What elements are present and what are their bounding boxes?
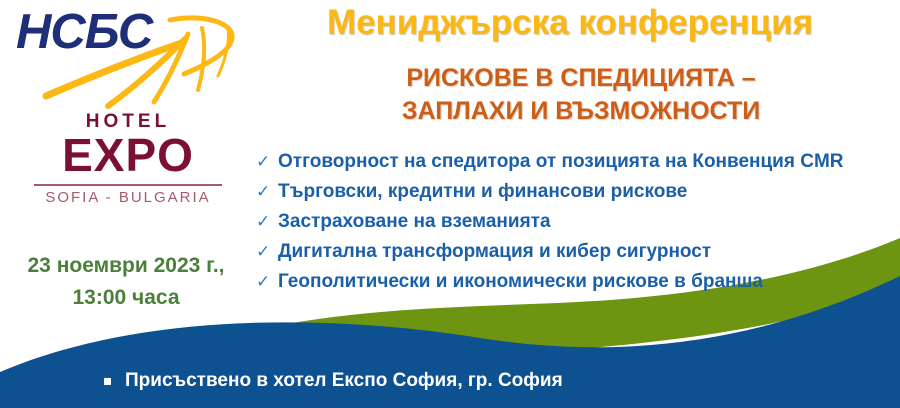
check-icon: ✓ [256,273,278,290]
list-item: ✓ Геополитически и икономически рискове … [256,272,896,296]
event-time: 13:00 часа [8,282,244,314]
hotel-expo-logo: HOTEL EXPO SOFIA - BULGARIA [28,112,228,207]
check-icon: ✓ [256,183,278,200]
list-item: ✓ Отговорност на спедитора от позицията … [256,152,896,176]
venue-label: Присъствено в хотел Експо София, гр. Соф… [125,370,563,392]
event-datetime: 23 ноември 2023 г., 13:00 часа [8,250,244,313]
subtitle-line-1: РИСКОВЕ В СПЕДИЦИЯТА – [270,62,892,95]
topics-list: ✓ Отговорност на спедитора от позицията … [256,152,896,302]
subtitle-line-2: ЗАПЛАХИ И ВЪЗМОЖНОСТИ [270,95,892,128]
list-item-label: Геополитически и икономически рискове в … [278,272,763,293]
page-subtitle: РИСКОВЕ В СПЕДИЦИЯТА – ЗАПЛАХИ И ВЪЗМОЖН… [270,62,892,128]
expo-wordmark: EXPO [28,131,228,179]
nsbs-wordmark: НСБС [16,8,152,57]
check-icon: ✓ [256,243,278,260]
nsbs-logo: НСБС [8,2,246,110]
square-bullet-icon [104,378,111,385]
list-item: ✓ Дигитална трансформация и кибер сигурн… [256,242,896,266]
list-item-label: Търговски, кредитни и финансови рискове [278,182,687,203]
conference-poster: НСБС HOTEL EXPO SOFIA - BULGARIA 23 ноем… [0,0,900,408]
list-item: ✓ Търговски, кредитни и финансови рисков… [256,182,896,206]
check-icon: ✓ [256,153,278,170]
list-item-label: Дигитална трансформация и кибер сигурнос… [278,242,711,263]
list-item-label: Застраховане на вземанията [278,212,551,233]
list-item: ✓ Застраховане на вземанията [256,212,896,236]
venue-banner: Присъствено в хотел Експо София, гр. Соф… [104,370,563,392]
event-date: 23 ноември 2023 г., [8,250,244,282]
expo-location-label: SOFIA - BULGARIA [28,190,228,207]
page-title: Мениджърска конференция [248,4,892,43]
expo-divider [34,184,222,186]
list-item-label: Отговорност на спедитора от позицията на… [278,152,844,173]
check-icon: ✓ [256,213,278,230]
